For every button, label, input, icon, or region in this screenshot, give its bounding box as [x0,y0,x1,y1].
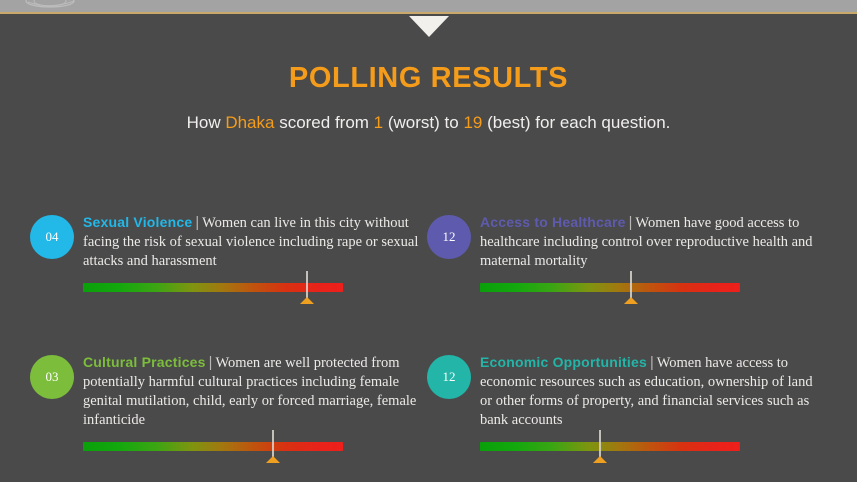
gauge-track [480,442,740,451]
gauge-marker-line [630,271,632,300]
category-label: Sexual Violence [83,214,192,230]
subtitle-text-4: (best) for each question. [482,113,670,132]
subtitle-text-3: (worst) to [383,113,463,132]
page-title: POLLING RESULTS [0,60,857,96]
result-card: 03 Cultural Practices|Women are well pro… [28,345,428,464]
subtitle-max-score: 19 [463,113,482,132]
score-badge: 12 [427,355,471,399]
gauge-track [83,283,343,292]
subtitle-city: Dhaka [225,113,274,132]
card-header: 03 Cultural Practices|Women are well pro… [28,345,428,430]
result-card: 12 Access to Healthcare|Women have good … [425,205,825,305]
gauge-track [480,283,740,292]
label-divider: | [626,215,636,231]
score-badge: 03 [30,355,74,399]
label-divider: | [647,355,657,371]
header: POLLING RESULTS How Dhaka scored from 1 … [0,60,857,135]
label-divider: | [206,355,216,371]
gauge-marker-arrow-icon [593,456,607,463]
result-card: 12 Economic Opportunities|Women have acc… [425,345,825,464]
score-gauge [480,271,740,305]
result-card: 04 Sexual Violence|Women can live in thi… [28,205,428,305]
subtitle-text-2: scored from [274,113,373,132]
logo-watermark-icon [22,0,82,12]
gauge-marker-line [306,271,308,300]
score-badge: 04 [30,215,74,259]
score-badge: 12 [427,215,471,259]
card-body: Economic Opportunities|Women have access… [480,345,825,430]
score-gauge [83,430,343,464]
card-body: Sexual Violence|Women can live in this c… [83,205,428,271]
label-divider: | [192,215,202,231]
top-band [0,0,857,14]
page-subtitle: How Dhaka scored from 1 (worst) to 19 (b… [169,110,689,135]
subtitle-text-1: How [187,113,226,132]
card-header: 04 Sexual Violence|Women can live in thi… [28,205,428,271]
card-header: 12 Access to Healthcare|Women have good … [425,205,825,271]
gauge-marker-arrow-icon [300,297,314,304]
down-triangle-nub-icon [409,16,449,37]
category-label: Cultural Practices [83,354,206,370]
card-body: Access to Healthcare|Women have good acc… [480,205,825,271]
category-label: Access to Healthcare [480,214,626,230]
card-header: 12 Economic Opportunities|Women have acc… [425,345,825,430]
score-gauge [480,430,740,464]
category-label: Economic Opportunities [480,354,647,370]
score-gauge [83,271,343,305]
subtitle-min-score: 1 [374,113,383,132]
gauge-marker-arrow-icon [266,456,280,463]
gauge-track [83,442,343,451]
gauge-marker-line [272,430,274,459]
gauge-marker-line [599,430,601,459]
card-body: Cultural Practices|Women are well protec… [83,345,428,430]
gauge-marker-arrow-icon [624,297,638,304]
